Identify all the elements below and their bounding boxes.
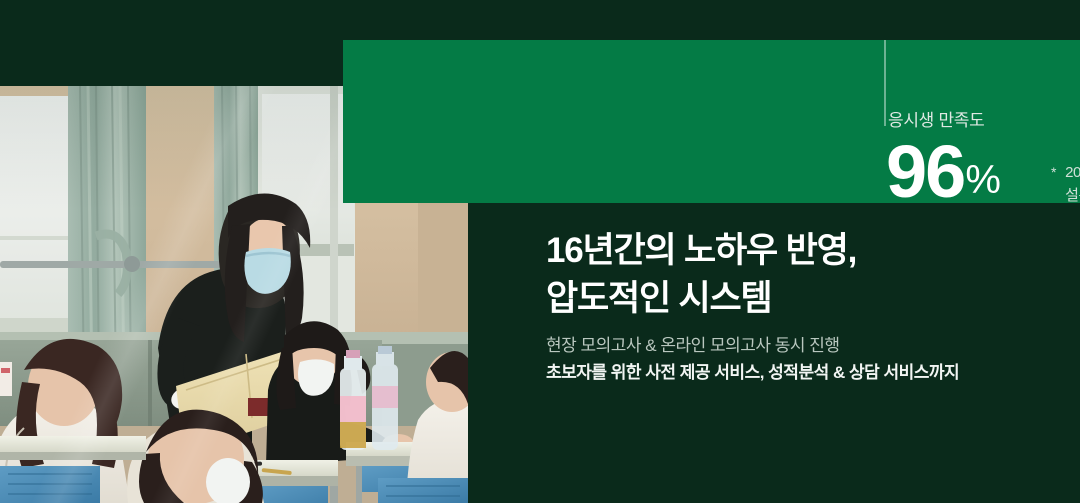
stat-number: 96 bbox=[886, 140, 964, 204]
headline-line-2: 압도적인 시스템 bbox=[546, 275, 856, 323]
footnote-asterisk-icon: * bbox=[1051, 161, 1056, 208]
subcopy-line-2: 초보자를 위한 사전 제공 서비스, 성적분석 & 상담 서비스까지 bbox=[546, 358, 959, 383]
stat-footnote: * 2021학년도 희소모의고사 응시자 설문조사 결과 bbox=[1051, 161, 1080, 208]
promo-banner: 응시생 만족도 96 % * 2021학년도 희소모의고사 응시자 설문조사 결… bbox=[0, 0, 1080, 503]
headline-line-1: 16년간의 노하우 반영, bbox=[546, 227, 856, 275]
footnote-lines: 2021학년도 희소모의고사 응시자 설문조사 결과 bbox=[1065, 161, 1080, 208]
stat-divider bbox=[884, 40, 886, 126]
subcopy-line-1: 현장 모의고사 & 온라인 모의고사 동시 진행 bbox=[546, 331, 840, 356]
stat-label: 응시생 만족도 bbox=[888, 106, 984, 131]
satisfaction-stat-panel: 응시생 만족도 96 % * 2021학년도 희소모의고사 응시자 설문조사 결… bbox=[343, 40, 1080, 203]
footnote-line-1: 2021학년도 희소모의고사 응시자 bbox=[1065, 161, 1080, 184]
stat-unit: % bbox=[965, 160, 1001, 204]
footnote-line-2: 설문조사 결과 bbox=[1065, 184, 1080, 207]
page-title: 16년간의 노하우 반영, 압도적인 시스템 bbox=[546, 227, 856, 324]
stat-value-row: 96 % bbox=[886, 140, 1001, 204]
